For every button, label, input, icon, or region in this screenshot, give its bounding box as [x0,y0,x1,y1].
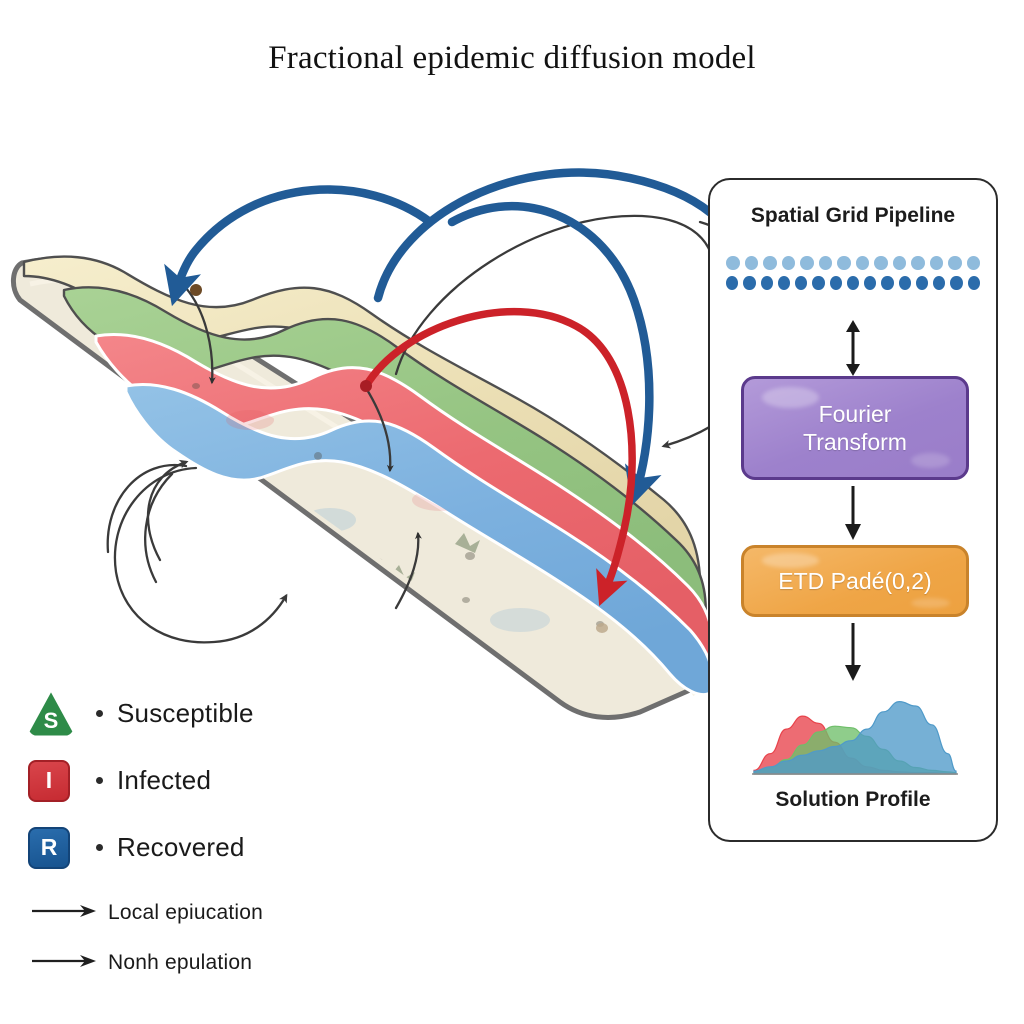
grid-dot [950,276,962,290]
grid-dot-row-light [726,256,980,270]
grid-dot [930,256,944,270]
panel-caption: Solution Profile [710,788,996,812]
arrow-right-icon [30,903,108,924]
grid-dot [778,276,790,290]
grid-dot-row-dark [726,276,980,290]
legend-label-recovered: Recovered [117,832,245,863]
connector-etd-to-profile [710,623,996,681]
spatial-grid-pipeline-panel: Spatial Grid Pipeline Fourier Transform … [708,178,998,842]
grid-dot [745,256,759,270]
bullet-icon [96,844,103,851]
grid-dot [874,256,888,270]
grid-dot [864,276,876,290]
grid-dot [743,276,755,290]
grid-dot [726,256,740,270]
legend-item-susceptible: S Susceptible [28,680,448,747]
grid-dot [881,276,893,290]
legend-item-recovered: R Recovered [28,814,448,881]
fourier-line-2: Transform [803,428,907,456]
legend-label-susceptible: Susceptible [117,698,254,729]
grid-dot [782,256,796,270]
bullet-icon [96,777,103,784]
grid-dot [893,256,907,270]
badge-wrap-susceptible: S [28,692,88,736]
panel-title: Spatial Grid Pipeline [710,204,996,228]
recovered-badge-icon: R [28,827,70,869]
grid-dot [800,256,814,270]
grid-dot [761,276,773,290]
grid-dot [847,276,859,290]
grid-dot [830,276,842,290]
badge-wrap-infected: I [28,760,88,802]
fourier-transform-box[interactable]: Fourier Transform [741,376,969,480]
susceptible-badge-icon: S [28,692,74,736]
grid-dot [968,276,980,290]
grid-dot [899,276,911,290]
arrow-right-icon [30,953,108,974]
grid-dot [819,256,833,270]
grid-dot [795,276,807,290]
grid-dot [948,256,962,270]
source-node [190,284,202,296]
grid-dot [967,256,981,270]
grid-dot [856,256,870,270]
terrain-slab [13,257,712,718]
legend-label-infected: Infected [117,765,211,796]
grid-dot [763,256,777,270]
bullet-icon [96,710,103,717]
spatial-grid-dots [726,256,980,296]
connector-fourier-to-etd [710,486,996,540]
arrow-legend-item-local: Local epiucation [30,888,460,938]
etd-label: ETD Padé(0,2) [778,567,931,595]
arrow-legend-item-nonlocal: Nonh epulation [30,938,460,988]
infected-badge-icon: I [28,760,70,802]
etd-pade-box[interactable]: ETD Padé(0,2) [741,545,969,617]
grid-dot [837,256,851,270]
grid-dot [916,276,928,290]
grid-dot [911,256,925,270]
grid-dot [726,276,738,290]
grid-dot [812,276,824,290]
connector-grid-to-fourier [710,320,996,376]
arrow-legend-label-nonlocal: Nonh epulation [108,951,252,975]
arrow-legend: Local epiucation Nonh epulation [30,888,460,988]
solution-profile-chart [748,690,962,780]
legend-item-infected: I Infected [28,747,448,814]
badge-wrap-recovered: R [28,827,88,869]
figure-root: Fractional epidemic diffusion model [0,0,1024,1024]
fourier-line-1: Fourier [819,400,892,428]
legend: S Susceptible I Infected R Recovered [28,680,448,881]
arrow-legend-label-local: Local epiucation [108,901,263,925]
grid-dot [933,276,945,290]
